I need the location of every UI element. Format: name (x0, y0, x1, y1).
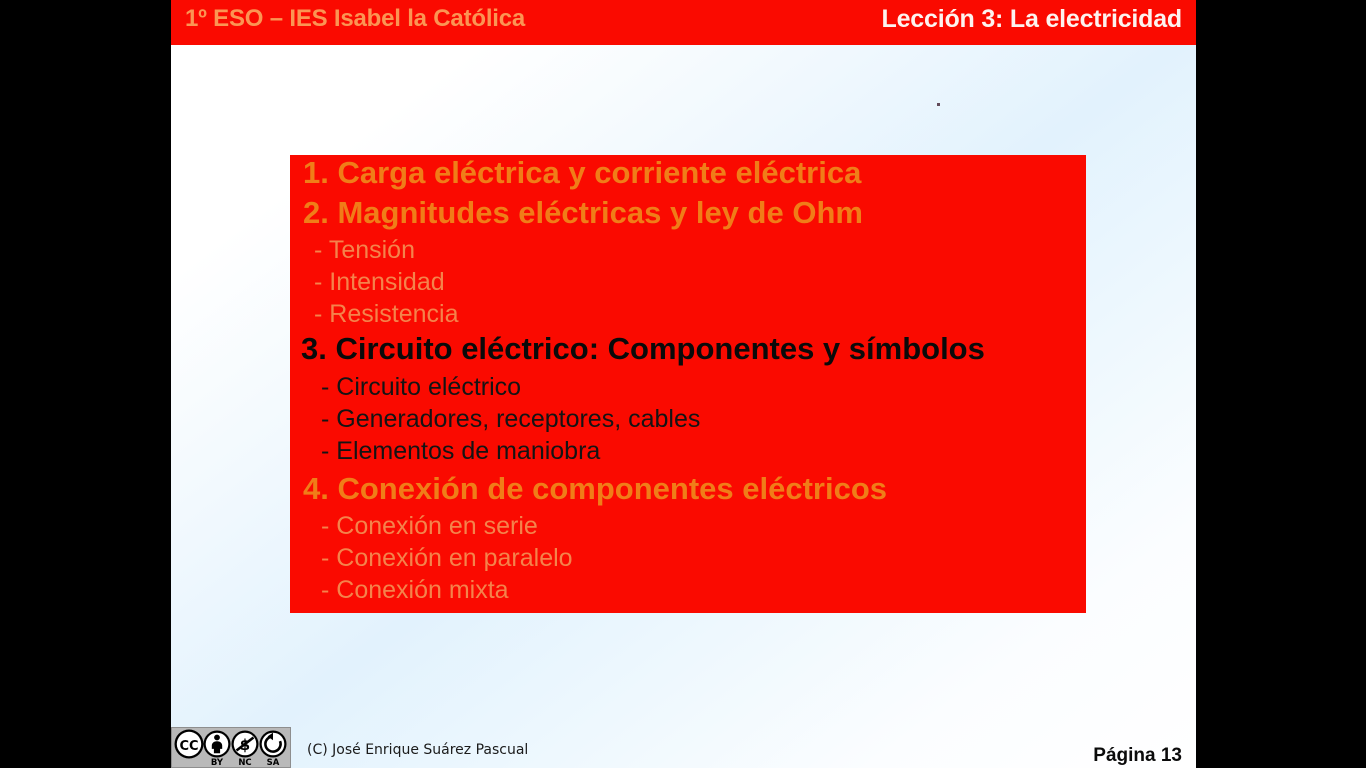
sa-share-alike-icon (260, 731, 287, 758)
index-section-2-heading: 2. Magnitudes eléctricas y ley de Ohm (303, 197, 863, 228)
index-section-3-subitem-1: - Circuito eléctrico (321, 375, 521, 400)
index-section-3-subitem-3: - Elementos de maniobra (321, 439, 600, 464)
index-section-3-subitem-2: - Generadores, receptores, cables (321, 407, 700, 432)
slide-header-band: 1º ESO – IES Isabel la Católica Lección … (171, 0, 1196, 45)
presentation-slide: 1º ESO – IES Isabel la Católica Lección … (171, 0, 1196, 768)
index-section-2-subitem-1: - Tensión (314, 238, 415, 263)
nc-crossed-dollar-icon: $ (232, 731, 259, 758)
stray-mark (937, 103, 940, 106)
screen-letterbox: 1º ESO – IES Isabel la Católica Lección … (0, 0, 1366, 768)
index-section-2-subitem-3: - Resistencia (314, 302, 459, 327)
cc-license-icons: CC $ (172, 728, 290, 767)
sa-label: SA (267, 758, 280, 767)
index-section-1-heading: 1. Carga eléctrica y corriente eléctrica (303, 157, 861, 188)
index-section-3-heading: 3. Circuito eléctrico: Componentes y sím… (301, 333, 985, 364)
index-section-4-heading: 4. Conexión de componentes eléctricos (303, 473, 887, 504)
nc-label: NC (238, 758, 251, 767)
index-section-4-subitem-2: - Conexión en paralelo (321, 546, 573, 571)
cc-icon: CC (175, 730, 204, 759)
index-section-4-subitem-3: - Conexión mixta (321, 578, 509, 603)
by-person-icon (204, 731, 231, 758)
creative-commons-badge[interactable]: CC $ (171, 727, 291, 768)
by-label: BY (211, 758, 224, 767)
index-section-2-subitem-2: - Intensidad (314, 270, 445, 295)
course-title: 1º ESO – IES Isabel la Católica (185, 5, 525, 33)
copyright-text: (C) José Enrique Suárez Pascual (307, 742, 528, 758)
index-section-4-subitem-1: - Conexión en serie (321, 514, 538, 539)
lesson-title: Lección 3: La electricidad (882, 5, 1182, 34)
page-number: Página 13 (1093, 745, 1182, 767)
svg-text:CC: CC (179, 739, 198, 754)
lesson-index-panel: 1. Carga eléctrica y corriente eléctrica… (290, 155, 1086, 613)
